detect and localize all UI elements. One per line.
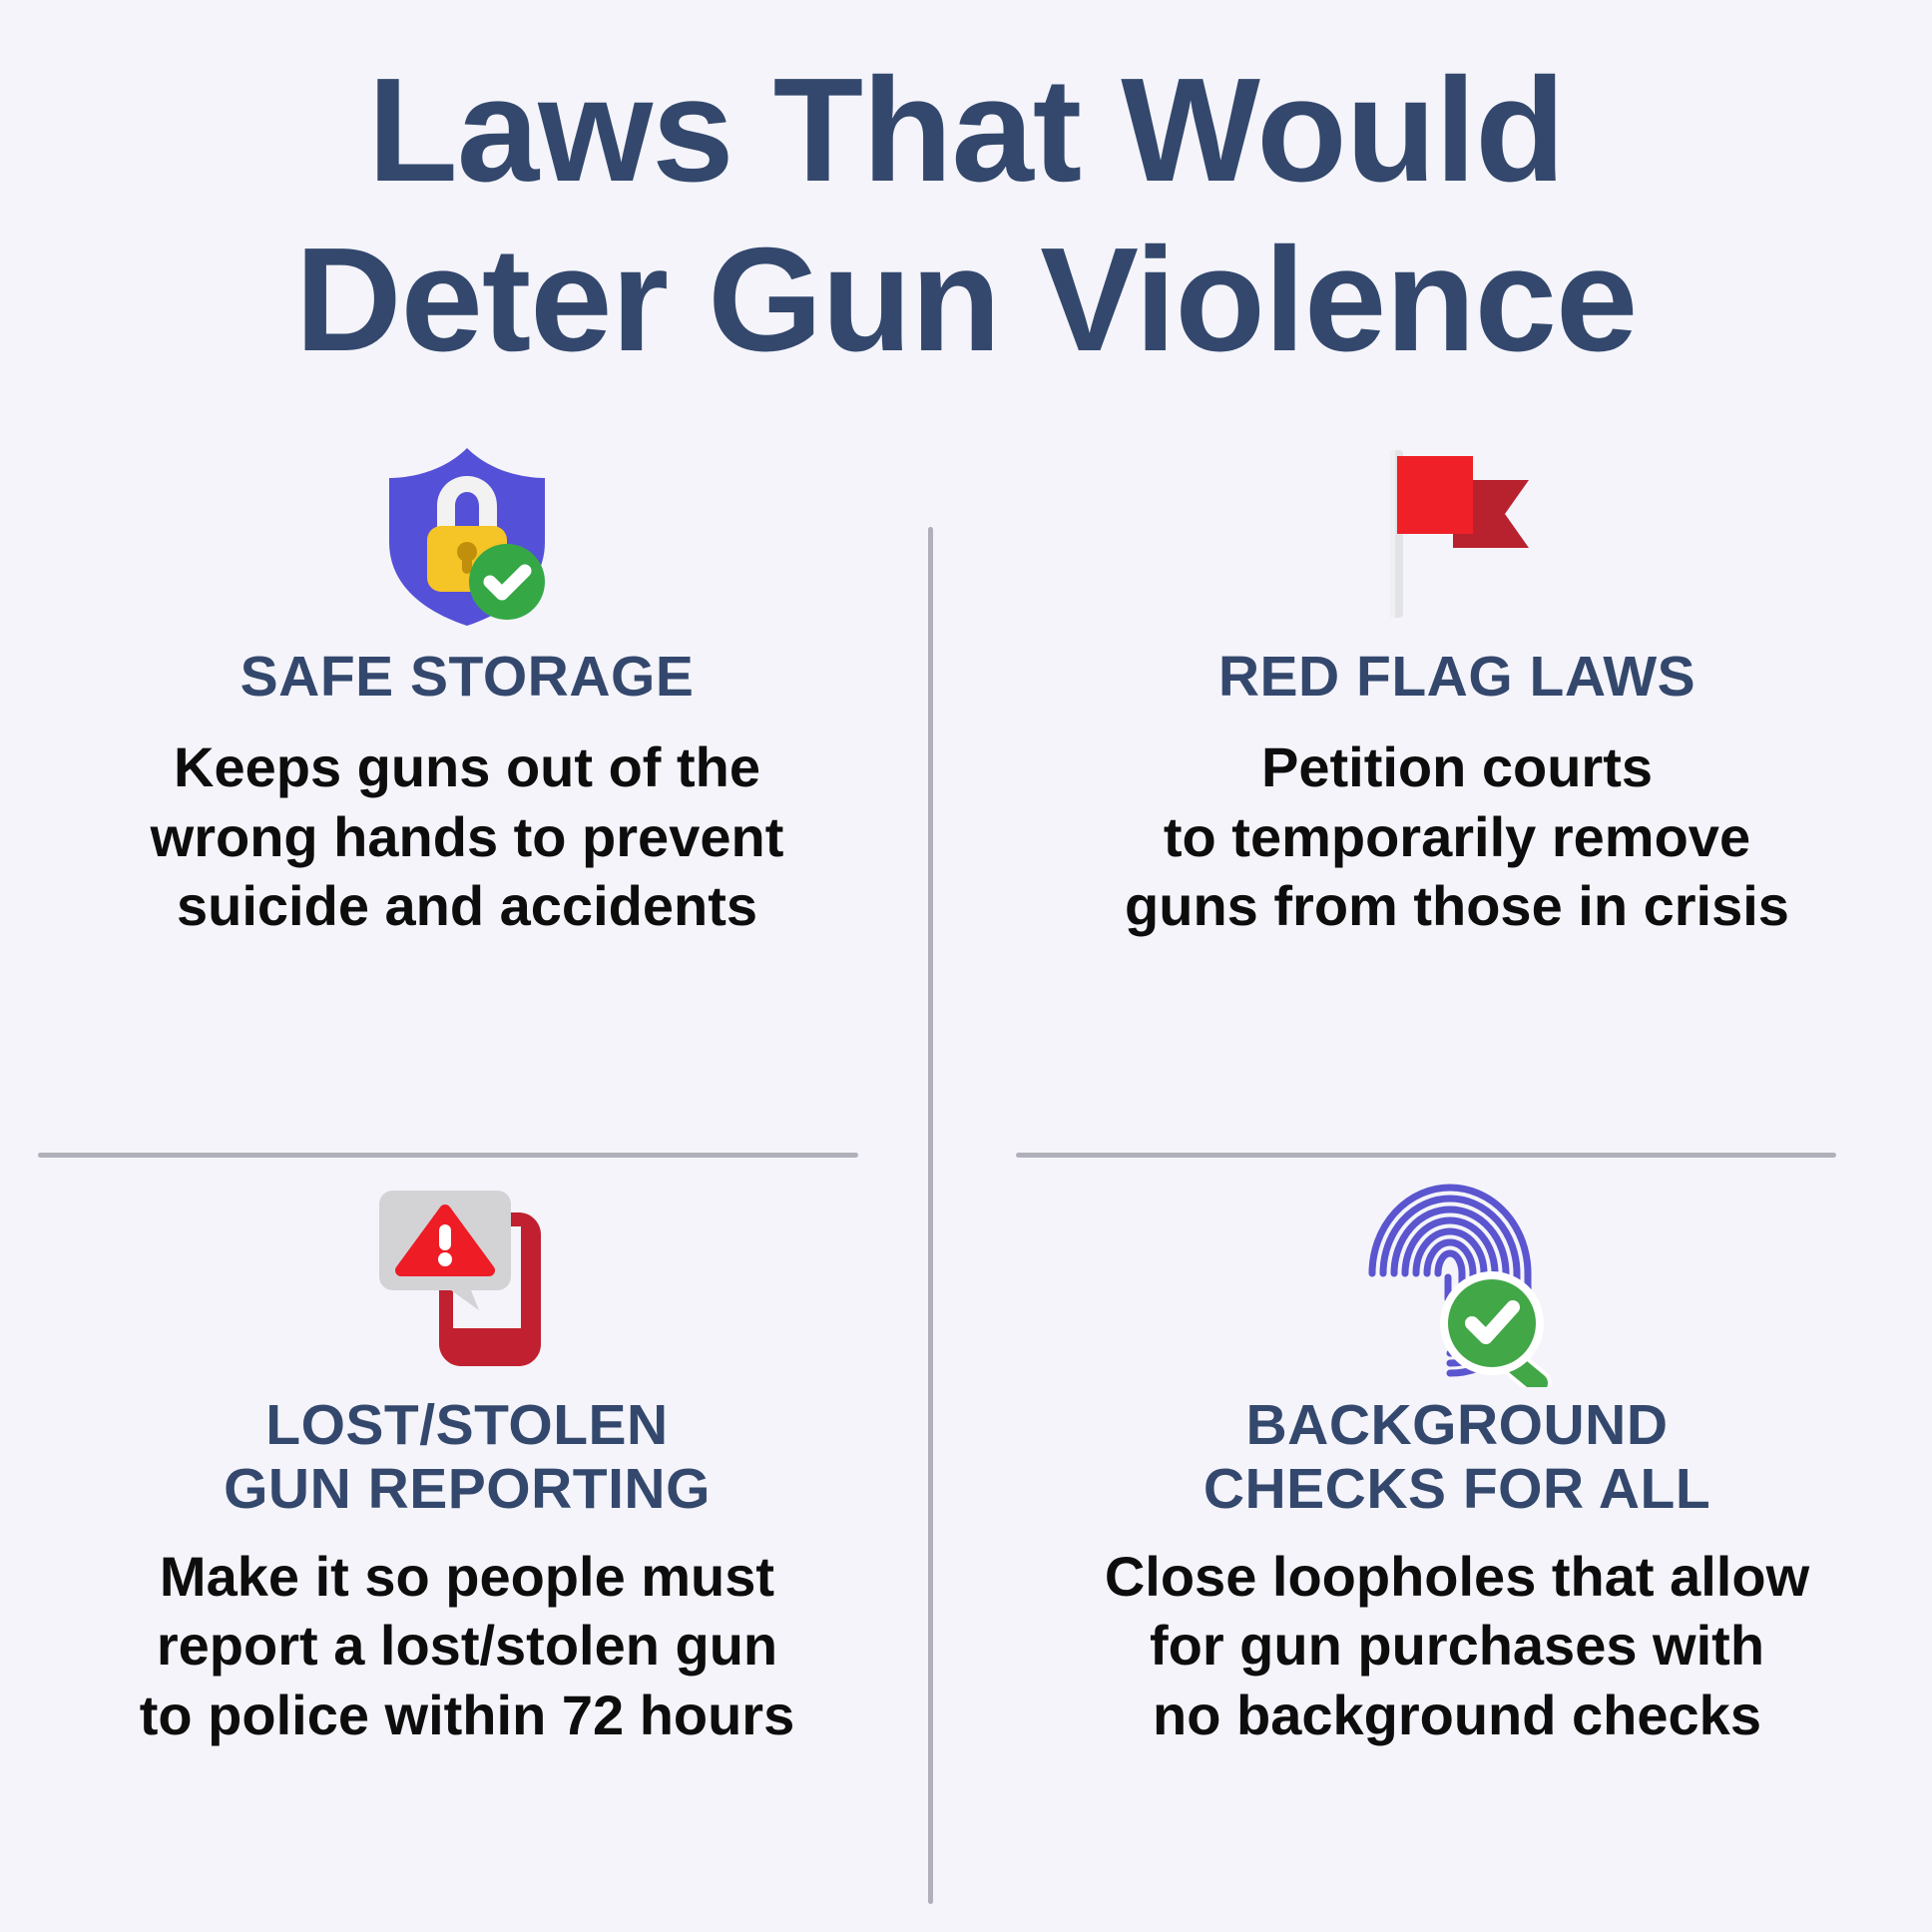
card-body-line: to police within 72 hours bbox=[18, 1681, 916, 1749]
card-heading-line: LOST/STOLEN bbox=[18, 1393, 916, 1457]
card-body: Keeps guns out of the wrong hands to pre… bbox=[18, 732, 916, 940]
card-heading-line: BACKGROUND bbox=[1008, 1393, 1906, 1457]
card-heading: RED FLAG LAWS bbox=[1008, 645, 1906, 709]
phone-alert-report-icon bbox=[18, 1178, 916, 1387]
fingerprint-magnifier-check-icon bbox=[1008, 1178, 1906, 1387]
card-heading: SAFE STORAGE bbox=[18, 645, 916, 709]
card-body-line: Close loopholes that allow bbox=[1008, 1542, 1906, 1611]
card-heading-line: SAFE STORAGE bbox=[18, 645, 916, 709]
card-lost-stolen-gun-reporting: LOST/STOLEN GUN REPORTING Make it so peo… bbox=[18, 1178, 916, 1749]
card-safe-storage: SAFE STORAGE Keeps guns out of the wrong… bbox=[18, 429, 916, 941]
card-body: Make it so people must report a lost/sto… bbox=[18, 1542, 916, 1749]
cards-grid: SAFE STORAGE Keeps guns out of the wrong… bbox=[0, 429, 1932, 1932]
red-flag-icon bbox=[1008, 429, 1906, 639]
card-body-line: report a lost/stolen gun bbox=[18, 1611, 916, 1680]
page-title-line-1: Laws That Would bbox=[0, 46, 1932, 216]
shield-lock-check-icon bbox=[18, 429, 916, 639]
card-red-flag-laws: RED FLAG LAWS Petition courts to tempora… bbox=[1008, 429, 1906, 941]
page-title-line-2: Deter Gun Violence bbox=[0, 216, 1932, 385]
card-body: Petition courts to temporarily remove gu… bbox=[1008, 732, 1906, 940]
card-heading: BACKGROUND CHECKS FOR ALL bbox=[1008, 1393, 1906, 1522]
card-body-line: wrong hands to prevent bbox=[18, 802, 916, 871]
card-heading-line: GUN REPORTING bbox=[18, 1457, 916, 1521]
infographic-poster: Laws That Would Deter Gun Violence SAF bbox=[0, 0, 1932, 1932]
card-body-line: suicide and accidents bbox=[18, 871, 916, 940]
card-body: Close loopholes that allow for gun purch… bbox=[1008, 1542, 1906, 1749]
card-body-line: Petition courts bbox=[1008, 732, 1906, 801]
card-heading-line: RED FLAG LAWS bbox=[1008, 645, 1906, 709]
card-body-line: Make it so people must bbox=[18, 1542, 916, 1611]
card-body-line: to temporarily remove bbox=[1008, 802, 1906, 871]
card-heading-line: CHECKS FOR ALL bbox=[1008, 1457, 1906, 1521]
card-body-line: no background checks bbox=[1008, 1681, 1906, 1749]
card-background-checks-for-all: BACKGROUND CHECKS FOR ALL Close loophole… bbox=[1008, 1178, 1906, 1749]
card-body-line: Keeps guns out of the bbox=[18, 732, 916, 801]
card-body-line: for gun purchases with bbox=[1008, 1611, 1906, 1680]
card-heading: LOST/STOLEN GUN REPORTING bbox=[18, 1393, 916, 1522]
page-title: Laws That Would Deter Gun Violence bbox=[0, 46, 1932, 385]
card-body-line: guns from those in crisis bbox=[1008, 871, 1906, 940]
